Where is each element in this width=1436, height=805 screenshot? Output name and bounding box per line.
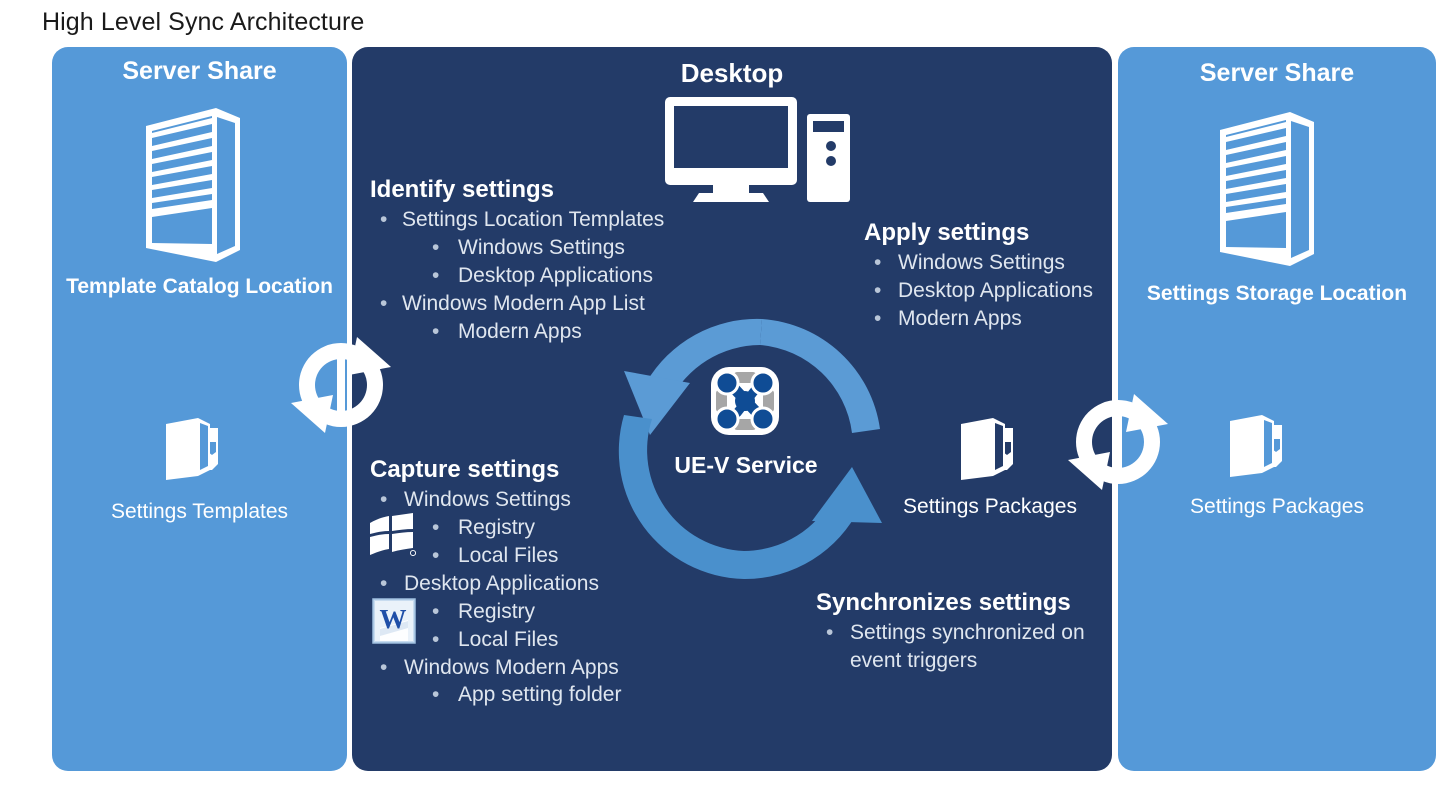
bullet-glyph: •: [432, 626, 439, 654]
sync-arrows-icon: [1064, 388, 1172, 496]
apply-settings-heading: Apply settings: [864, 219, 1093, 247]
folder-icon: [160, 414, 226, 486]
server-rack-icon: [138, 104, 248, 264]
bullet-glyph: •: [380, 654, 387, 682]
uev-service-icon: [707, 363, 783, 439]
template-catalog-location-label: Template Catalog Location: [52, 275, 347, 299]
desktop-computer-icon: [665, 97, 850, 202]
synchronizes-settings-block: Synchronizes settings •Settings synchron…: [816, 589, 1130, 675]
folder-icon: [955, 414, 1021, 486]
list-item: •Desktop Applications: [370, 262, 664, 290]
apply-settings-block: Apply settings •Windows Settings •Deskto…: [864, 219, 1093, 333]
bullet-glyph: •: [874, 249, 881, 277]
identify-settings-heading: Identify settings: [370, 176, 664, 204]
windows-logo-icon: [368, 512, 416, 556]
bullet-glyph: •: [432, 514, 439, 542]
settings-templates-label: Settings Templates: [52, 500, 347, 524]
list-item: •Settings Location Templates: [370, 206, 664, 234]
bullet-glyph: •: [432, 681, 439, 709]
sync-arrows-icon: [287, 331, 395, 439]
list-item: •Windows Settings: [370, 234, 664, 262]
settings-packages-label: Settings Packages: [900, 495, 1080, 519]
list-item-label: Modern Apps: [898, 307, 1022, 330]
list-item-label: Desktop Applications: [404, 572, 599, 595]
list-item-label: Windows Modern Apps: [404, 656, 619, 679]
bullet-glyph: •: [826, 619, 833, 647]
list-item-label: Windows Settings: [404, 488, 571, 511]
uev-service-label: UE-V Service: [644, 452, 848, 479]
list-item: •Desktop Applications: [864, 277, 1093, 305]
list-item-label: Modern Apps: [458, 320, 582, 343]
page-title: High Level Sync Architecture: [42, 8, 364, 37]
list-item: •Modern Apps: [864, 305, 1093, 333]
bullet-glyph: •: [380, 486, 387, 514]
list-item-label: Desktop Applications: [458, 264, 653, 287]
list-item-label: Registry: [458, 600, 535, 623]
bullet-glyph: •: [432, 598, 439, 626]
panel-right-header: Server Share: [1118, 59, 1436, 88]
process-cycle-arrows-icon: [594, 311, 894, 583]
bullet-glyph: •: [380, 570, 387, 598]
list-item-label: Settings synchronized on event triggers: [850, 621, 1085, 672]
list-item-label: Settings Location Templates: [402, 208, 664, 231]
bullet-glyph: •: [432, 542, 439, 570]
list-item-label: App setting folder: [458, 683, 621, 706]
list-item-label: Local Files: [458, 544, 558, 567]
folder-icon: [1224, 411, 1290, 483]
bullet-glyph: •: [380, 206, 387, 234]
svg-text:W: W: [380, 604, 407, 634]
list-item-label: Desktop Applications: [898, 279, 1093, 302]
panel-center-header: Desktop: [352, 58, 1112, 89]
bullet-glyph: •: [432, 234, 439, 262]
list-item-label: Local Files: [458, 628, 558, 651]
settings-packages-label: Settings Packages: [1118, 495, 1436, 519]
list-item-label: Windows Settings: [898, 251, 1065, 274]
list-item: •Settings synchronized on event triggers: [816, 619, 1130, 675]
list-item: •Windows Settings: [864, 249, 1093, 277]
synchronizes-settings-heading: Synchronizes settings: [816, 589, 1130, 617]
settings-storage-location-label: Settings Storage Location: [1118, 282, 1436, 306]
bullet-glyph: •: [380, 290, 387, 318]
bullet-glyph: •: [432, 262, 439, 290]
bullet-glyph: •: [432, 318, 439, 346]
server-rack-icon: [1212, 108, 1322, 268]
panel-left-header: Server Share: [52, 57, 347, 86]
bullet-glyph: •: [874, 277, 881, 305]
list-item-label: Windows Settings: [458, 236, 625, 259]
list-item-label: Registry: [458, 516, 535, 539]
microsoft-word-icon: W: [372, 598, 416, 644]
